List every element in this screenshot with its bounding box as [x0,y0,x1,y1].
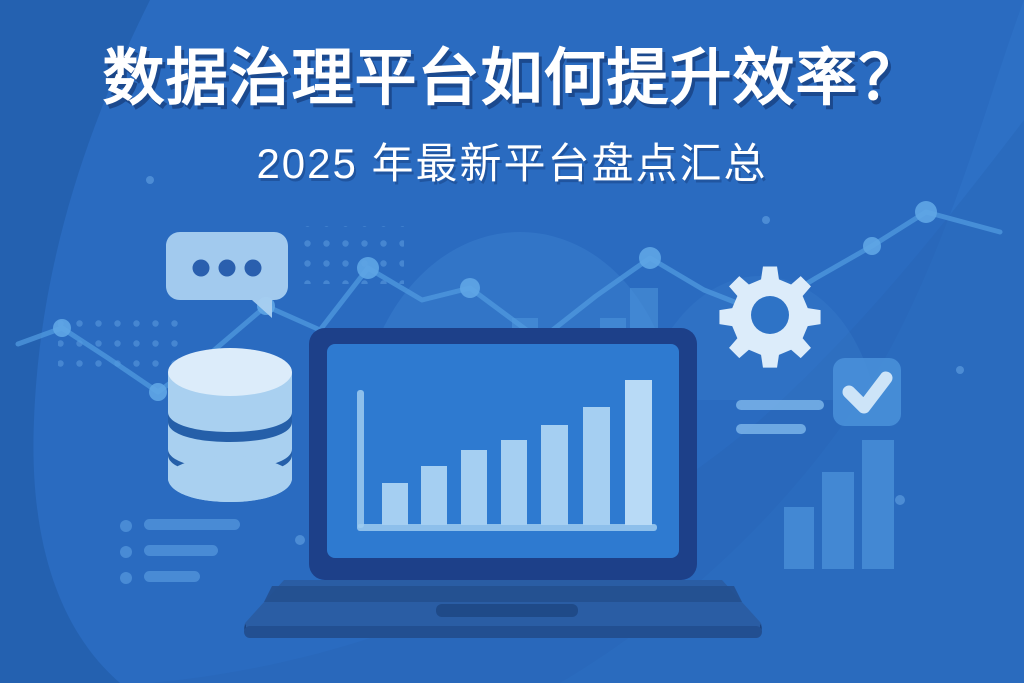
bar [382,483,408,525]
bar [501,440,527,525]
chart-x-axis [357,524,657,531]
foreground-layer [0,0,1024,683]
bar [461,450,487,525]
bullet-dot [120,546,132,558]
laptop-trackpad [436,604,578,617]
chart-y-axis [357,390,364,528]
bullet-list-left [120,519,240,584]
poster-canvas: 数据治理平台如何提升效率？ 2025 年最新平台盘点汇总 [0,0,1024,683]
text-line [736,400,824,410]
chat-dot [193,260,210,277]
chat-bubble-icon [166,232,288,318]
checkmark-icon [833,358,901,426]
bullet-dot [120,572,132,584]
laptop-base-shade [264,586,742,602]
database-icon [168,348,292,502]
gear-icon [719,267,820,368]
chat-dot [245,260,262,277]
text-lines-right [736,400,824,434]
bullet-line [144,545,218,556]
bullet-line [144,519,240,530]
chat-dot [219,260,236,277]
bar [625,380,652,525]
bar [583,407,610,525]
bar [421,466,447,525]
bullet-line [144,571,200,582]
laptop-base-front [244,626,762,638]
text-line [736,424,806,434]
bar [541,425,568,525]
bullet-dot [120,520,132,532]
laptop-icon [244,328,762,638]
